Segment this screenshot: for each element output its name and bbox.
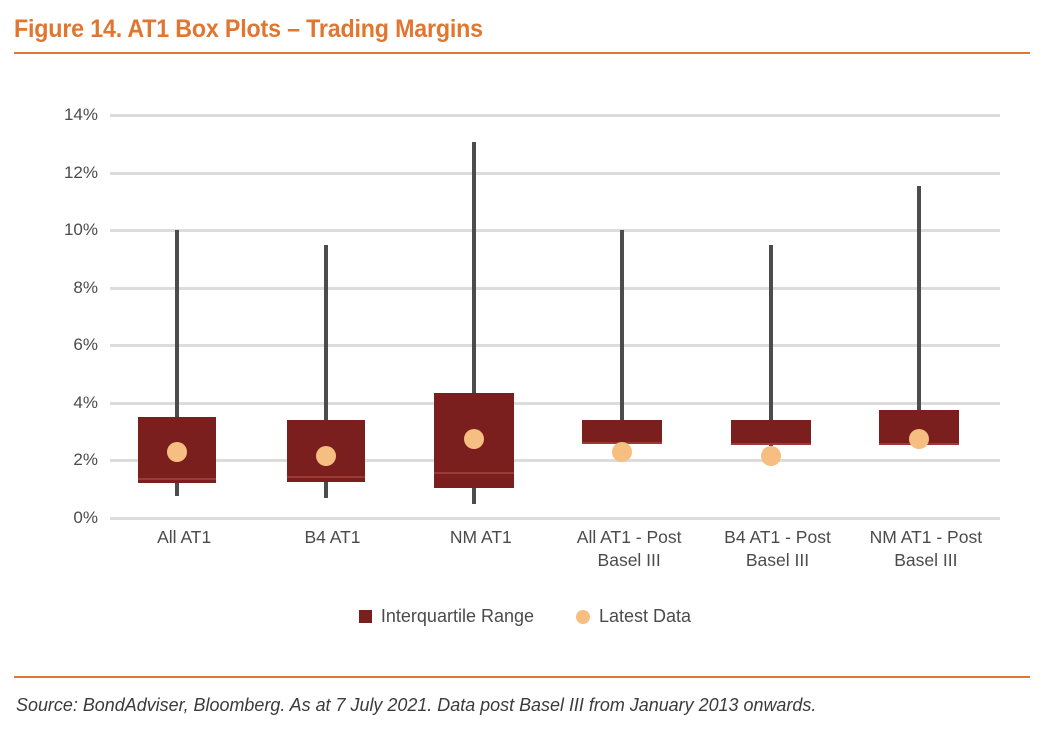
x-axis-tick-label: B4 AT1	[250, 526, 414, 549]
gridline	[110, 402, 1000, 405]
x-axis-tick-label-line: All AT1 - Post	[547, 526, 711, 549]
x-axis-tick-label: All AT1 - PostBasel III	[547, 526, 711, 572]
median-line	[434, 472, 514, 474]
y-axis-tick-label: 6%	[73, 335, 98, 355]
title-block: Figure 14. AT1 Box Plots – Trading Margi…	[14, 14, 1030, 54]
x-axis-tick-label: All AT1	[102, 526, 266, 549]
x-axis-tick-label-line: Basel III	[695, 549, 859, 572]
y-axis-tick-label: 2%	[73, 450, 98, 470]
whisker-line	[769, 245, 773, 447]
x-axis-tick-label-line: All AT1	[102, 526, 266, 549]
plot-region	[110, 115, 1000, 518]
y-axis-tick-label: 10%	[64, 220, 98, 240]
legend-item[interactable]: Interquartile Range	[359, 606, 534, 627]
median-line	[287, 476, 365, 478]
figure-page: Figure 14. AT1 Box Plots – Trading Margi…	[0, 0, 1050, 738]
latest-data-point	[612, 442, 632, 462]
y-axis-labels: 0%2%4%6%8%10%12%14%	[0, 115, 98, 518]
x-axis-tick-label-line: B4 AT1 - Post	[695, 526, 859, 549]
gridline	[110, 229, 1000, 232]
gridline	[110, 344, 1000, 347]
x-axis-tick-label: NM AT1	[399, 526, 563, 549]
x-axis-tick-label-line: NM AT1 - Post	[844, 526, 1008, 549]
median-line	[731, 443, 811, 445]
y-axis-tick-label: 0%	[73, 508, 98, 528]
title-divider	[14, 52, 1030, 54]
legend-item[interactable]: Latest Data	[576, 606, 691, 627]
gridline	[110, 459, 1000, 462]
legend-circle-icon	[576, 610, 590, 624]
y-axis-tick-label: 12%	[64, 163, 98, 183]
latest-data-point	[167, 442, 187, 462]
chart-legend: Interquartile RangeLatest Data	[0, 606, 1050, 627]
gridline	[110, 287, 1000, 290]
y-axis-tick-label: 14%	[64, 105, 98, 125]
latest-data-point	[909, 429, 929, 449]
x-axis-tick-label: B4 AT1 - PostBasel III	[695, 526, 859, 572]
interquartile-box	[731, 420, 811, 444]
legend-label: Interquartile Range	[381, 606, 534, 627]
x-axis-labels: All AT1B4 AT1NM AT1All AT1 - PostBasel I…	[110, 526, 1000, 588]
gridline	[110, 517, 1000, 520]
median-line	[138, 478, 216, 480]
x-axis-tick-label-line: NM AT1	[399, 526, 563, 549]
y-axis-tick-label: 4%	[73, 393, 98, 413]
x-axis-tick-label-line: Basel III	[547, 549, 711, 572]
legend-square-icon	[359, 610, 372, 623]
footer-divider	[14, 676, 1030, 678]
whisker-line	[620, 230, 624, 444]
chart-area: 0%2%4%6%8%10%12%14% All AT1B4 AT1NM AT1A…	[0, 78, 1050, 658]
x-axis-tick-label-line: B4 AT1	[250, 526, 414, 549]
gridline	[110, 172, 1000, 175]
latest-data-point	[464, 429, 484, 449]
x-axis-tick-label-line: Basel III	[844, 549, 1008, 572]
page-title: Figure 14. AT1 Box Plots – Trading Margi…	[14, 14, 959, 44]
latest-data-point	[316, 446, 336, 466]
legend-label: Latest Data	[599, 606, 691, 627]
whisker-line	[917, 186, 921, 448]
interquartile-box	[582, 420, 662, 443]
x-axis-tick-label: NM AT1 - PostBasel III	[844, 526, 1008, 572]
source-note: Source: BondAdviser, Bloomberg. As at 7 …	[16, 694, 816, 716]
y-axis-tick-label: 8%	[73, 278, 98, 298]
latest-data-point	[761, 446, 781, 466]
gridline	[110, 114, 1000, 117]
